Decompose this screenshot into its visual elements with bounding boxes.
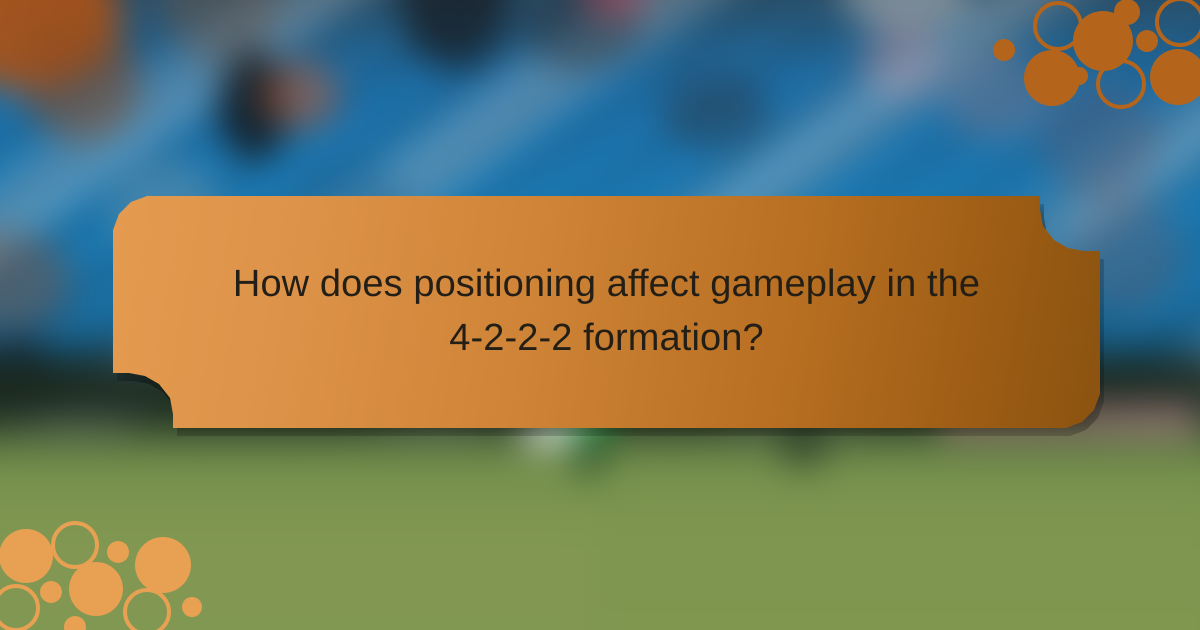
decorative-circle	[1136, 30, 1158, 52]
decorative-circle	[1155, 0, 1200, 47]
decorative-circle	[1096, 59, 1146, 109]
decorative-circle	[107, 541, 129, 563]
question-text: How does positioning affect gameplay in …	[207, 258, 1007, 366]
decorative-circle	[993, 39, 1015, 61]
decorative-circle	[123, 588, 171, 630]
question-card: How does positioning affect gameplay in …	[113, 196, 1100, 428]
question-card-graphic: How does positioning affect gameplay in …	[0, 0, 1200, 630]
decorative-circle	[69, 562, 123, 616]
decorative-circle	[0, 529, 53, 583]
decorative-circle	[1070, 67, 1088, 85]
decorative-circle	[135, 537, 191, 593]
decorative-circle	[40, 581, 62, 603]
decorative-circle	[1150, 49, 1200, 105]
decorative-circle	[182, 597, 202, 617]
